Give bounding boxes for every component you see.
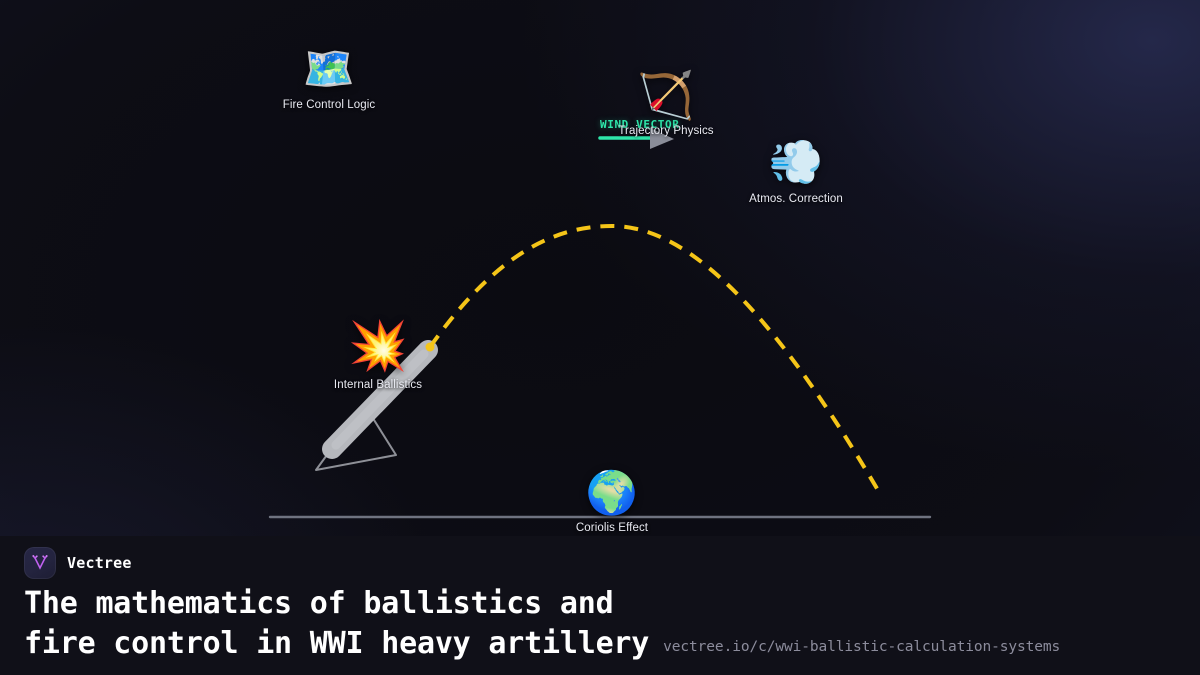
node-label: Fire Control Logic [283, 99, 376, 111]
node-internal-ballistics[interactable]: 💥 Internal Ballistics [283, 323, 473, 391]
world-map-icon: 🗺️ [303, 46, 355, 92]
node-label: Internal Ballistics [334, 379, 422, 391]
diagram-scene: WIND VECTOR 🗺️ Fire Control Logic 🏹 Traj… [0, 0, 1200, 536]
bow-and-arrow-icon: 🏹 [637, 72, 694, 118]
brand-block[interactable]: Vectree [24, 536, 1176, 580]
ballistics-infographic: WIND VECTOR 🗺️ Fire Control Logic 🏹 Traj… [0, 0, 1200, 675]
node-label: Coriolis Effect [576, 522, 648, 534]
explosion-icon: 💥 [348, 323, 408, 369]
page-title: The mathematics of ballistics and fire c… [24, 584, 649, 663]
node-atmospheric-correction[interactable]: 💨 Atmos. Correction [701, 140, 891, 205]
node-coriolis-effect[interactable]: 🌍 Coriolis Effect [517, 470, 707, 534]
earth-globe-icon: 🌍 [586, 470, 638, 516]
node-trajectory-physics[interactable]: 🏹 Trajectory Physics [571, 72, 761, 137]
headline-row: The mathematics of ballistics and fire c… [24, 580, 1176, 663]
logo-glyph [30, 553, 50, 573]
node-label: Trajectory Physics [618, 125, 713, 137]
vectree-v-tree-logo [24, 547, 56, 579]
node-fire-control-logic[interactable]: 🗺️ Fire Control Logic [234, 46, 424, 111]
footer-bar: Vectree The mathematics of ballistics an… [0, 536, 1200, 675]
site-url[interactable]: vectree.io/c/wwi-ballistic-calculation-s… [663, 639, 1060, 663]
ballistic-trajectory-arc [430, 226, 882, 497]
node-label: Atmos. Correction [749, 193, 843, 205]
brand-name: Vectree [67, 554, 132, 572]
wind-gust-icon: 💨 [769, 140, 824, 186]
